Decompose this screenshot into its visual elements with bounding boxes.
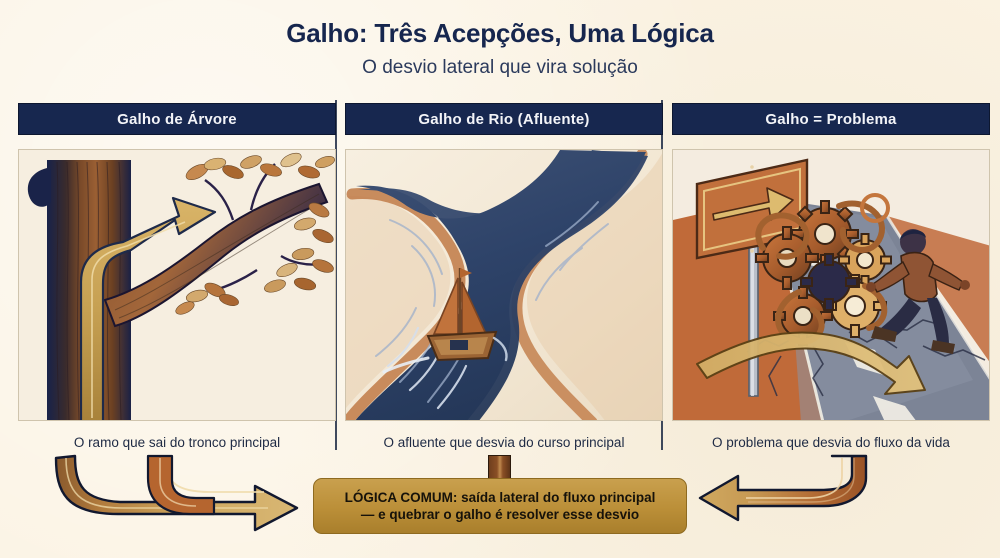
page-subtitle: O desvio lateral que vira solução: [0, 57, 1000, 79]
panel-river-caption: O afluente que desvia do curso principal: [345, 435, 663, 450]
middle-connector-stem: [488, 455, 511, 479]
panel-tree: Galho de Árvore: [18, 103, 336, 421]
banner-line-2: — e quebrar o galho é resolver esse desv…: [361, 506, 639, 523]
panel-problem-caption: O problema que desvia do fluxo da vida: [672, 435, 990, 450]
panel-tree-caption: O ramo que sai do tronco principal: [18, 435, 336, 450]
banner-line-1: LÓGICA COMUM: saída lateral do fluxo pri…: [345, 489, 656, 506]
road-obstacle-detour-illustration: [672, 149, 990, 421]
common-logic-banner: LÓGICA COMUM: saída lateral do fluxo pri…: [313, 478, 687, 534]
river-tributary-illustration: [345, 149, 663, 421]
right-connector-arrow: [700, 456, 866, 520]
panel-river: Galho de Rio (Afluente): [345, 103, 663, 421]
panel-tree-header: Galho de Árvore: [18, 103, 336, 135]
left-connector-secondary-stem: [148, 456, 214, 514]
panel-problem: Galho = Problema: [672, 103, 990, 421]
tree-branch-illustration: [18, 149, 336, 421]
infographic-canvas: Galho: Três Acepções, Uma Lógica O desvi…: [0, 0, 1000, 558]
panel-problem-header: Galho = Problema: [672, 103, 990, 135]
page-title: Galho: Três Acepções, Uma Lógica: [0, 18, 1000, 49]
panel-river-header: Galho de Rio (Afluente): [345, 103, 663, 135]
left-connector-arrow: [56, 456, 297, 530]
